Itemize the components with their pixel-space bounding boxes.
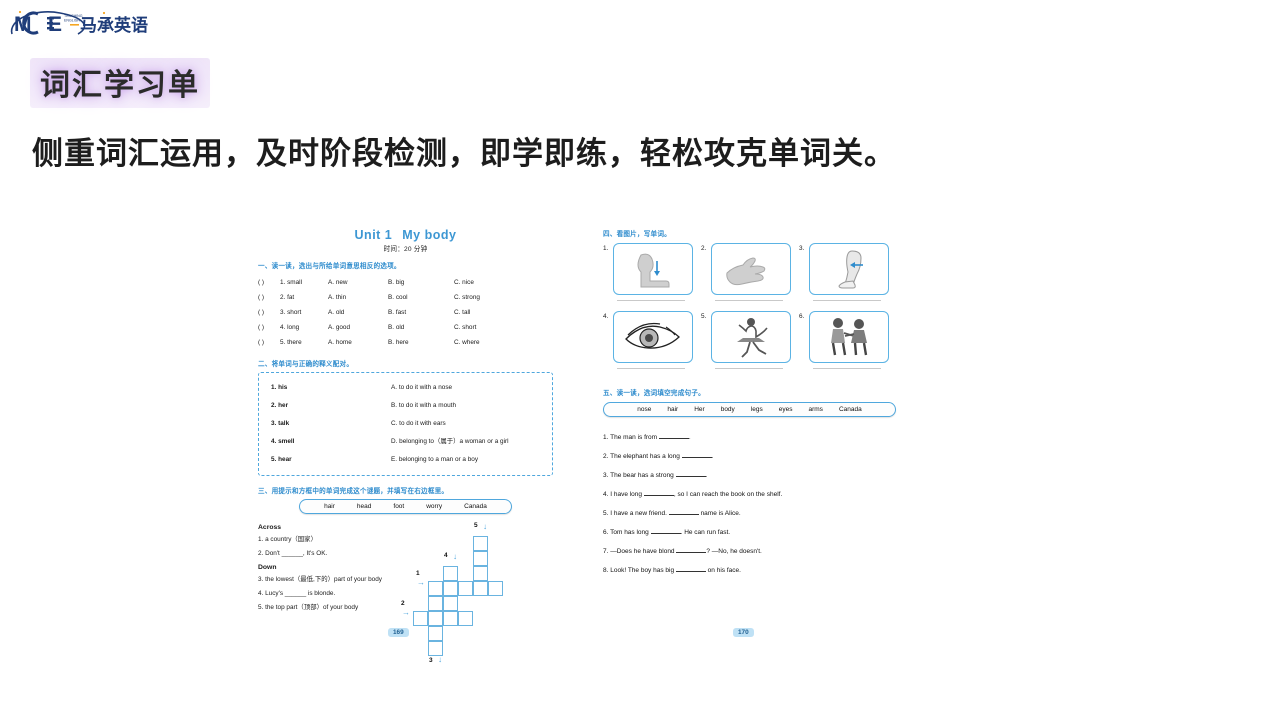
page-number-badge: 169 [388, 628, 409, 637]
sentence-pre: 5. I have a new friend. [603, 510, 669, 517]
sentence-pre: 6. Tom has long [603, 529, 651, 536]
match-definition[interactable]: B. to do it with a mouth [391, 397, 542, 415]
picture-number: 5. [701, 313, 706, 320]
option-a[interactable]: A. thin [328, 290, 388, 305]
arrow-down-icon: ↓ [483, 523, 487, 531]
option-c[interactable]: C. nice [454, 275, 514, 290]
worksheet-page-left: Unit 1My body 时间：20 分钟 一、读一读，选出与所给单词意思相反… [258, 228, 553, 648]
crossword-cell[interactable] [428, 626, 443, 641]
answer-line[interactable] [617, 368, 685, 369]
match-row: 4. smell D. belonging to（属于）a woman or a… [271, 433, 542, 451]
option-b[interactable]: B. big [388, 275, 454, 290]
crossword-cell[interactable] [473, 566, 488, 581]
option-c[interactable]: C. tall [454, 305, 514, 320]
crossword-grid[interactable]: 1 → 2 → 3 ↓ 4 ↓ 5 ↓ [413, 521, 533, 656]
fill-blank-sentence: 6. Tom has long . He can run fast. [603, 523, 898, 542]
picture-box[interactable] [711, 311, 791, 363]
wordbank-word[interactable]: nose [637, 406, 651, 413]
arm-icon [623, 249, 683, 289]
option-c[interactable]: C. short [454, 320, 514, 335]
wordbank-word[interactable]: Her [694, 406, 704, 413]
wordbank-word[interactable]: eyes [779, 406, 793, 413]
answer-paren[interactable]: ( ) [258, 320, 280, 335]
clue-across[interactable]: 2. Don't ______, It's OK. [258, 547, 413, 561]
crossword-number: 2 [401, 600, 405, 607]
option-a[interactable]: A. good [328, 320, 388, 335]
fill-blank-sentence: 8. Look! The boy has big on his face. [603, 561, 898, 580]
crossword-number: 4 [444, 552, 448, 559]
question-row: ( ) 4. long A. good B. old C. short [258, 320, 553, 335]
picture-box[interactable] [613, 311, 693, 363]
clue-down[interactable]: 5. the top part（顶部）of your body [258, 601, 413, 615]
sentence-pre: 8. Look! The boy has big [603, 567, 676, 574]
crossword-cell[interactable] [428, 641, 443, 656]
wordbank-word[interactable]: worry [426, 503, 442, 510]
leg-foot-icon [819, 249, 879, 289]
match-definition[interactable]: E. belonging to a man or a boy [391, 451, 542, 469]
picture-number: 3. [799, 245, 804, 252]
sentence-pre: 1. The man is from [603, 434, 659, 441]
sentence-pre: 3. The bear has a strong [603, 472, 676, 479]
answer-line[interactable] [715, 300, 783, 301]
match-row: 3. talk C. to do it with ears [271, 415, 542, 433]
time-line: 时间：20 分钟 [258, 243, 553, 253]
option-b[interactable]: B. cool [388, 290, 454, 305]
picture-item: 5. [701, 311, 799, 369]
match-definition[interactable]: A. to do it with a nose [391, 379, 542, 397]
section1-rows: ( ) 1. small A. new B. big C. nice ( ) 2… [258, 275, 553, 350]
fill-blank-sentence: 2. The elephant has a long . [603, 447, 898, 466]
unit-title: My body [402, 228, 456, 242]
picture-box[interactable] [613, 243, 693, 295]
svg-text:ENGLISH: ENGLISH [64, 19, 80, 23]
question-stem: 4. long [280, 320, 328, 335]
sentence-post: . He can run fast. [681, 529, 731, 536]
blank-field[interactable] [669, 514, 699, 515]
answer-paren[interactable]: ( ) [258, 305, 280, 320]
fill-blank-sentence: 7. —Does he have blond ? —No, he doesn't… [603, 542, 898, 561]
match-word[interactable]: 2. her [271, 397, 391, 415]
option-a[interactable]: A. old [328, 305, 388, 320]
crossword-cell[interactable] [443, 596, 458, 611]
question-stem: 3. short [280, 305, 328, 320]
section5-wordbank: nose hair Her body legs eyes arms Canada [603, 402, 896, 417]
picture-box[interactable] [711, 243, 791, 295]
clue-down[interactable]: 4. Lucy's ______ is blonde. [258, 587, 413, 601]
crossword-cell[interactable] [413, 611, 428, 626]
section2-heading: 二、将单词与正确的释义配对。 [258, 358, 553, 368]
match-box: 1. his A. to do it with a nose 2. her B.… [258, 372, 553, 476]
section5-heading: 五、读一读，选词填空完成句子。 [603, 387, 898, 397]
answer-line[interactable] [813, 300, 881, 301]
wordbank-word[interactable]: legs [751, 406, 763, 413]
worksheet-page-right: 四、看图片，写单词。 1. 2. 3. [603, 228, 898, 648]
crossword-number: 1 [416, 570, 420, 577]
crossword-cell[interactable] [458, 611, 473, 626]
question-row: ( ) 2. fat A. thin B. cool C. strong [258, 290, 553, 305]
section3-wordbank: hair head foot worry Canada [299, 499, 512, 514]
option-a[interactable]: A. new [328, 275, 388, 290]
option-a[interactable]: A. home [328, 335, 388, 350]
blank-field[interactable] [651, 533, 681, 534]
wordbank-word[interactable]: head [357, 503, 371, 510]
answer-line[interactable] [715, 368, 783, 369]
wordbank-word[interactable]: hair [324, 503, 335, 510]
wordbank-word[interactable]: hair [667, 406, 678, 413]
blank-field[interactable] [676, 571, 706, 572]
blank-field[interactable] [676, 552, 706, 553]
sentence-post: name is Alice. [699, 510, 741, 517]
answer-paren[interactable]: ( ) [258, 290, 280, 305]
arrow-down-icon: ↓ [453, 553, 457, 561]
eye-icon [622, 319, 684, 355]
clue-down[interactable]: 3. the lowest（最低,下的）part of your body [258, 573, 413, 587]
blank-field[interactable] [659, 438, 689, 439]
sentence-post: on his face. [706, 567, 741, 574]
wordbank-word[interactable]: Canada [464, 503, 487, 510]
match-word[interactable]: 1. his [271, 379, 391, 397]
crossword-cell[interactable] [473, 581, 488, 596]
option-c[interactable]: C. strong [454, 290, 514, 305]
option-c[interactable]: C. where [454, 335, 514, 350]
option-b[interactable]: B. here [388, 335, 454, 350]
crossword-number: 5 [474, 522, 478, 529]
match-word[interactable]: 3. talk [271, 415, 391, 433]
picture-box[interactable] [809, 243, 889, 295]
crossword-cell[interactable] [428, 581, 443, 596]
crossword-number: 3 [429, 657, 433, 664]
wordbank-word[interactable]: body [721, 406, 735, 413]
question-stem: 2. fat [280, 290, 328, 305]
question-stem: 5. there [280, 335, 328, 350]
crossword-cell[interactable] [428, 611, 443, 626]
sentence-pre: 7. —Does he have blond [603, 548, 676, 555]
picture-item: 3. [799, 243, 897, 301]
answer-line[interactable] [617, 300, 685, 301]
unit-heading: Unit 1My body [258, 228, 553, 242]
unit-label: Unit 1 [355, 228, 393, 242]
match-row: 5. hear E. belonging to a man or a boy [271, 451, 542, 469]
clue-across[interactable]: 1. a country（国家） [258, 533, 413, 547]
brand-logo: M E TEACHING ENGLISH 马承英语 [8, 4, 148, 42]
fill-blank-sentence: 1. The man is from . [603, 428, 898, 447]
question-stem: 1. small [280, 275, 328, 290]
picture-item: 6. [799, 311, 897, 369]
sentence-post: . [712, 453, 714, 460]
crossword-cell[interactable] [443, 566, 458, 581]
crossword-cell[interactable] [443, 611, 458, 626]
picture-number: 1. [603, 245, 608, 252]
sentence-post: , so I can reach the book on the shelf. [674, 491, 782, 498]
arrow-down-icon: ↓ [438, 656, 442, 664]
sentence-post: . [706, 472, 708, 479]
page-title: 词汇学习单 [30, 58, 210, 108]
picture-box[interactable] [809, 311, 889, 363]
sentence-post: . [689, 434, 691, 441]
picture-item: 2. [701, 243, 799, 301]
two-kids-icon [820, 315, 878, 359]
match-definition[interactable]: D. belonging to（属于）a woman or a girl [391, 433, 542, 451]
crossword-cell[interactable] [488, 581, 503, 596]
option-b[interactable]: B. old [388, 320, 454, 335]
question-row: ( ) 5. there A. home B. here C. where [258, 335, 553, 350]
crossword-cell[interactable] [473, 551, 488, 566]
picture-number: 4. [603, 313, 608, 320]
arrow-right-icon: → [402, 609, 410, 617]
sentence-post: ? —No, he doesn't. [706, 548, 761, 555]
sentence-pre: 4. I have long [603, 491, 644, 498]
down-label: Down [258, 564, 413, 571]
answer-line[interactable] [813, 368, 881, 369]
match-word[interactable]: 5. hear [271, 451, 391, 469]
question-row: ( ) 1. small A. new B. big C. nice [258, 275, 553, 290]
across-label: Across [258, 524, 413, 531]
wordbank-word[interactable]: foot [393, 503, 404, 510]
section3-heading: 三、用提示和方框中的单词完成这个谜题，并填写在右边框里。 [258, 485, 553, 495]
hand-icon [721, 249, 781, 289]
fill-blank-sentence: 3. The bear has a strong . [603, 466, 898, 485]
picture-item: 1. [603, 243, 701, 301]
option-b[interactable]: B. fast [388, 305, 454, 320]
crossword-cell[interactable] [443, 581, 458, 596]
answer-paren[interactable]: ( ) [258, 335, 280, 350]
blank-field[interactable] [676, 476, 706, 477]
crossword-cell[interactable] [428, 596, 443, 611]
picture-grid: 1. 2. 3. [603, 243, 898, 379]
match-row: 2. her B. to do it with a mouth [271, 397, 542, 415]
picture-number: 2. [701, 245, 706, 252]
blank-field[interactable] [644, 495, 674, 496]
wordbank-word[interactable]: arms [808, 406, 822, 413]
crossword-cell[interactable] [473, 536, 488, 551]
match-row: 1. his A. to do it with a nose [271, 379, 542, 397]
answer-paren[interactable]: ( ) [258, 275, 280, 290]
crossword-cell[interactable] [458, 581, 473, 596]
page-subtitle: 侧重词汇运用，及时阶段检测，即学即练，轻松攻克单词关。 [32, 128, 896, 173]
dancer-icon [729, 315, 773, 359]
svg-text:E: E [48, 13, 62, 36]
svg-text:马承英语: 马承英语 [80, 15, 148, 36]
match-word[interactable]: 4. smell [271, 433, 391, 451]
match-definition[interactable]: C. to do it with ears [391, 415, 542, 433]
fill-blank-sentence: 4. I have long , so I can reach the book… [603, 485, 898, 504]
section1-heading: 一、读一读，选出与所给单词意思相反的选项。 [258, 260, 553, 270]
sentence-pre: 2. The elephant has a long [603, 453, 682, 460]
fill-blank-sentence: 5. I have a new friend. name is Alice. [603, 504, 898, 523]
question-row: ( ) 3. short A. old B. fast C. tall [258, 305, 553, 320]
picture-item: 4. [603, 311, 701, 369]
blank-field[interactable] [682, 457, 712, 458]
arrow-right-icon: → [417, 579, 425, 587]
page-number-badge: 170 [733, 628, 754, 637]
picture-number: 6. [799, 313, 804, 320]
wordbank-word[interactable]: Canada [839, 406, 862, 413]
section5-sentences: 1. The man is from . 2. The elephant has… [603, 428, 898, 580]
section4-heading: 四、看图片，写单词。 [603, 228, 898, 238]
